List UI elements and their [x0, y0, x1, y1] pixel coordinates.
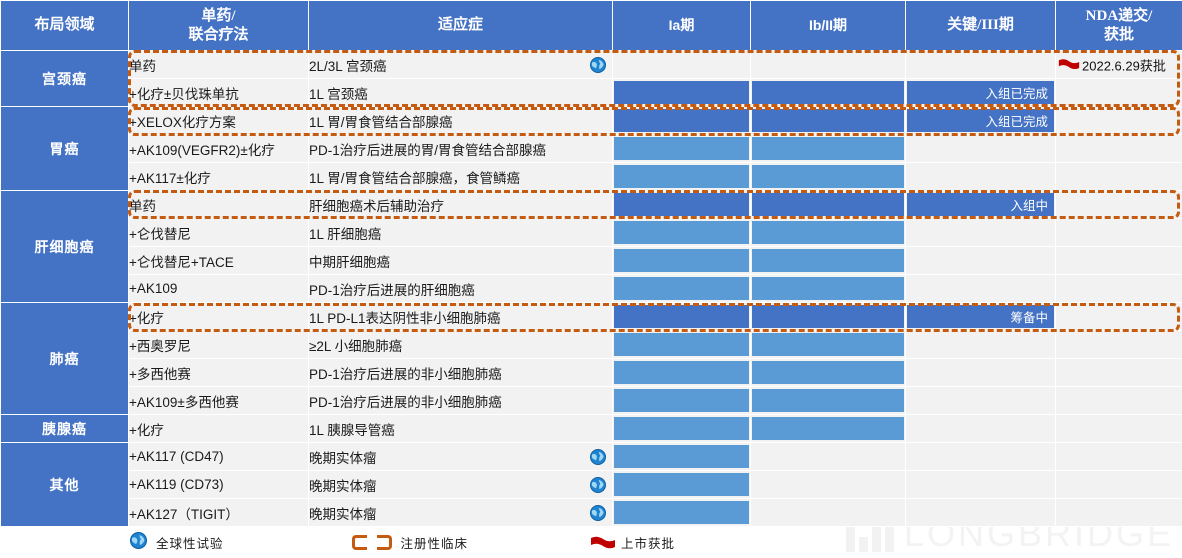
phase-ib2-cell-bar — [752, 221, 904, 244]
phase-pivotal-cell-bar — [907, 137, 1054, 160]
therapy-cell: +AK127（TIGIT） — [129, 499, 309, 527]
table-row: +西奥罗尼≥2L 小细胞肺癌 — [1, 331, 1182, 359]
table-row: 肺癌+化疗1L PD-L1表达阴性非小细胞肺癌筹备中 — [1, 303, 1182, 331]
phase-ia-cell — [613, 331, 751, 359]
phase-ia-cell-bar — [614, 501, 749, 524]
phase-ib2-cell — [751, 471, 906, 499]
therapy-cell: +AK109±多西他赛 — [129, 387, 309, 415]
phase-ia-cell-bar — [614, 221, 749, 244]
dashed-bracket-icon — [352, 535, 392, 550]
phase-ib2-cell-bar — [752, 165, 904, 188]
indication-cell: ≥2L 小细胞肺癌 — [309, 331, 613, 359]
phase-ib2-cell-bar — [752, 361, 904, 384]
phase-ia-cell-bar — [614, 445, 749, 468]
table-row: 宫颈癌单药2L/3L 宫颈癌2022.6.29获批 — [1, 51, 1182, 79]
nda-cell — [1056, 247, 1182, 275]
table-row: +AK119 (CD73)晚期实体瘤 — [1, 471, 1182, 499]
indication-cell: PD-1治疗后进展的非小细胞肺癌 — [309, 387, 613, 415]
phase-ia-cell — [613, 135, 751, 163]
phase-pivotal-cell-bar — [907, 473, 1054, 496]
phase-ia-cell — [613, 499, 751, 527]
globe-icon — [590, 505, 606, 521]
phase-pivotal-cell: 入组已完成 — [906, 107, 1056, 135]
legend-label-registration-trial: 注册性临床 — [401, 533, 469, 552]
phase-pivotal-cell-bar — [907, 53, 1054, 76]
therapy-cell: +AK117±化疗 — [129, 163, 309, 191]
phase-ia-cell-bar — [614, 389, 749, 412]
phase-ib2-cell-bar — [752, 109, 904, 132]
phase-pivotal-cell-bar — [907, 277, 1054, 300]
area-cell: 肝细胞癌 — [1, 191, 129, 303]
approval-marker: 2022.6.29获批 — [1058, 55, 1166, 74]
indication-cell: 中期肝细胞癌 — [309, 247, 613, 275]
phase-ia-cell — [613, 247, 751, 275]
pipeline-table: 布局领域 单药/ 联合疗法 适应症 Ia期 Ib/II期 关键/III期 NDA… — [0, 0, 1182, 527]
nda-cell — [1056, 471, 1182, 499]
indication-cell: 1L PD-L1表达阴性非小细胞肺癌 — [309, 303, 613, 331]
table-row: 胰腺癌+化疗1L 胰腺导管癌 — [1, 415, 1182, 443]
col-header-nda-line1: NDA递交/ — [1056, 7, 1182, 26]
phase-ib2-cell — [751, 275, 906, 303]
legend: 全球性试验 注册性临床 上市获批 — [0, 527, 1182, 558]
phase-pivotal-cell-bar: 筹备中 — [907, 305, 1054, 328]
phase-pivotal-cell: 筹备中 — [906, 303, 1056, 331]
phase-ib2-cell — [751, 163, 906, 191]
nda-cell: 2022.6.29获批 — [1056, 51, 1182, 79]
approval-date-label: 2022.6.29获批 — [1082, 55, 1166, 74]
indication-cell: 1L 肝细胞癌 — [309, 219, 613, 247]
phase-pivotal-cell-bar — [907, 221, 1054, 244]
phase-ia-cell-bar — [614, 277, 749, 300]
col-header-therapy-line2: 联合疗法 — [129, 26, 308, 45]
phase-ib2-cell — [751, 135, 906, 163]
col-header-phase-ib2: Ib/II期 — [751, 1, 906, 51]
phase-ib2-cell — [751, 219, 906, 247]
phase-ib2-cell — [751, 387, 906, 415]
nda-cell — [1056, 499, 1182, 527]
table-body: 宫颈癌单药2L/3L 宫颈癌2022.6.29获批+化疗±贝伐珠单抗1L 宫颈癌… — [1, 51, 1182, 527]
col-header-area: 布局领域 — [1, 1, 129, 51]
table-row: +化疗±贝伐珠单抗1L 宫颈癌入组已完成 — [1, 79, 1182, 107]
col-header-nda: NDA递交/ 获批 — [1056, 1, 1182, 51]
nda-cell — [1056, 443, 1182, 471]
nda-cell — [1056, 107, 1182, 135]
table-row: 其他+AK117 (CD47)晚期实体瘤 — [1, 443, 1182, 471]
therapy-cell: +仑伐替尼 — [129, 219, 309, 247]
phase-pivotal-cell — [906, 219, 1056, 247]
phase-pivotal-cell — [906, 275, 1056, 303]
col-header-phase-pivotal: 关键/III期 — [906, 1, 1056, 51]
phase-ia-cell — [613, 415, 751, 443]
phase-pivotal-cell — [906, 51, 1056, 79]
phase-ia-cell — [613, 191, 751, 219]
col-header-nda-line2: 获批 — [1056, 26, 1182, 45]
phase-ia-cell — [613, 387, 751, 415]
legend-item-registration-trial: 注册性临床 — [352, 533, 469, 552]
phase-pivotal-cell-bar: 入组已完成 — [907, 81, 1054, 104]
phase-ib2-cell — [751, 79, 906, 107]
phase-ib2-cell — [751, 303, 906, 331]
phase-ib2-cell — [751, 107, 906, 135]
therapy-cell: +AK109 — [129, 275, 309, 303]
nda-cell — [1056, 331, 1182, 359]
col-header-indication: 适应症 — [309, 1, 613, 51]
col-header-therapy: 单药/ 联合疗法 — [129, 1, 309, 51]
table-row: +仑伐替尼1L 肝细胞癌 — [1, 219, 1182, 247]
phase-pivotal-cell — [906, 387, 1056, 415]
phase-ia-cell-bar — [614, 333, 749, 356]
indication-cell: 1L 胃/胃食管结合部腺癌，食管鳞癌 — [309, 163, 613, 191]
indication-cell: 1L 胃/胃食管结合部腺癌 — [309, 107, 613, 135]
phase-ia-cell-bar — [614, 417, 749, 440]
phase-pivotal-cell — [906, 471, 1056, 499]
area-cell: 宫颈癌 — [1, 51, 129, 107]
table-row: +多西他赛PD-1治疗后进展的非小细胞肺癌 — [1, 359, 1182, 387]
therapy-cell: +化疗±贝伐珠单抗 — [129, 79, 309, 107]
phase-ia-cell-bar — [614, 361, 749, 384]
phase-ib2-cell-bar — [752, 305, 904, 328]
phase-ia-cell — [613, 219, 751, 247]
phase-pivotal-cell-bar — [907, 417, 1054, 440]
indication-cell: 1L 宫颈癌 — [309, 79, 613, 107]
globe-icon — [130, 532, 147, 553]
phase-pivotal-cell-bar — [907, 249, 1054, 272]
col-header-therapy-line1: 单药/ — [129, 7, 308, 26]
globe-icon — [590, 57, 606, 73]
phase-ia-cell — [613, 443, 751, 471]
indication-cell: PD-1治疗后进展的胃/胃食管结合部腺癌 — [309, 135, 613, 163]
nda-cell — [1056, 191, 1182, 219]
indication-cell: 晚期实体瘤 — [309, 499, 613, 527]
phase-ib2-cell-bar — [752, 81, 904, 104]
pipeline-table-wrapper: 布局领域 单药/ 联合疗法 适应症 Ia期 Ib/II期 关键/III期 NDA… — [0, 0, 1182, 527]
nda-cell — [1056, 415, 1182, 443]
globe-icon — [590, 477, 606, 493]
phase-ia-cell — [613, 275, 751, 303]
indication-cell: PD-1治疗后进展的非小细胞肺癌 — [309, 359, 613, 387]
therapy-cell: +多西他赛 — [129, 359, 309, 387]
phase-pivotal-cell — [906, 499, 1056, 527]
phase-ia-cell — [613, 359, 751, 387]
phase-pivotal-cell-bar — [907, 333, 1054, 356]
phase-pivotal-cell-bar — [907, 501, 1054, 524]
phase-ia-cell — [613, 163, 751, 191]
nda-cell — [1056, 163, 1182, 191]
phase-ib2-cell — [751, 247, 906, 275]
red-flag-icon — [590, 536, 612, 549]
area-cell: 其他 — [1, 443, 129, 527]
phase-ib2-cell-bar — [752, 277, 904, 300]
therapy-cell: +化疗 — [129, 415, 309, 443]
therapy-cell: 单药 — [129, 51, 309, 79]
phase-ib2-cell — [751, 499, 906, 527]
phase-ib2-cell-bar — [752, 473, 904, 496]
phase-pivotal-cell — [906, 443, 1056, 471]
indication-cell: 肝细胞癌术后辅助治疗 — [309, 191, 613, 219]
phase-ia-cell-bar — [614, 249, 749, 272]
nda-cell — [1056, 275, 1182, 303]
indication-cell: 晚期实体瘤 — [309, 443, 613, 471]
table-row: 胃癌+XELOX化疗方案1L 胃/胃食管结合部腺癌入组已完成 — [1, 107, 1182, 135]
phase-ia-cell-bar — [614, 109, 749, 132]
phase-ia-cell-bar — [614, 53, 749, 76]
nda-cell — [1056, 219, 1182, 247]
phase-pivotal-cell-bar — [907, 445, 1054, 468]
nda-cell — [1056, 135, 1182, 163]
nda-cell — [1056, 359, 1182, 387]
phase-ia-cell-bar — [614, 137, 749, 160]
legend-label-approval: 上市获批 — [621, 533, 675, 552]
phase-pivotal-cell-bar: 入组中 — [907, 193, 1054, 216]
table-row: +仑伐替尼+TACE中期肝细胞癌 — [1, 247, 1182, 275]
phase-ib2-cell-bar — [752, 137, 904, 160]
phase-ib2-cell-bar — [752, 193, 904, 216]
phase-ia-cell-bar — [614, 193, 749, 216]
indication-cell: PD-1治疗后进展的肝细胞癌 — [309, 275, 613, 303]
phase-ia-cell — [613, 471, 751, 499]
table-row: +AK127（TIGIT）晚期实体瘤 — [1, 499, 1182, 527]
indication-cell: 2L/3L 宫颈癌 — [309, 51, 613, 79]
legend-item-global-trial: 全球性试验 — [130, 532, 224, 553]
phase-ib2-cell — [751, 415, 906, 443]
phase-ia-cell — [613, 79, 751, 107]
phase-ib2-cell — [751, 331, 906, 359]
globe-icon — [590, 449, 606, 465]
phase-ib2-cell — [751, 443, 906, 471]
phase-pivotal-cell — [906, 135, 1056, 163]
table-header-row: 布局领域 单药/ 联合疗法 适应症 Ia期 Ib/II期 关键/III期 NDA… — [1, 1, 1182, 51]
phase-ib2-cell — [751, 191, 906, 219]
phase-ia-cell — [613, 303, 751, 331]
therapy-cell: +AK109(VEGFR2)±化疗 — [129, 135, 309, 163]
therapy-cell: +AK117 (CD47) — [129, 443, 309, 471]
phase-pivotal-cell: 入组已完成 — [906, 79, 1056, 107]
phase-pivotal-cell — [906, 331, 1056, 359]
phase-ia-cell-bar — [614, 165, 749, 188]
area-cell: 胰腺癌 — [1, 415, 129, 443]
phase-pivotal-cell — [906, 415, 1056, 443]
table-row: +AK109(VEGFR2)±化疗PD-1治疗后进展的胃/胃食管结合部腺癌 — [1, 135, 1182, 163]
phase-pivotal-cell — [906, 163, 1056, 191]
therapy-cell: +仑伐替尼+TACE — [129, 247, 309, 275]
phase-ib2-cell-bar — [752, 501, 904, 524]
legend-label-global-trial: 全球性试验 — [156, 533, 224, 552]
phase-pivotal-cell: 入组中 — [906, 191, 1056, 219]
phase-pivotal-cell-bar — [907, 165, 1054, 188]
nda-cell — [1056, 303, 1182, 331]
phase-pivotal-cell-bar — [907, 361, 1054, 384]
indication-cell: 晚期实体瘤 — [309, 471, 613, 499]
therapy-cell: +化疗 — [129, 303, 309, 331]
table-row: +AK109±多西他赛PD-1治疗后进展的非小细胞肺癌 — [1, 387, 1182, 415]
phase-pivotal-cell-bar: 入组已完成 — [907, 109, 1054, 132]
phase-pivotal-cell — [906, 247, 1056, 275]
therapy-cell: +XELOX化疗方案 — [129, 107, 309, 135]
phase-ia-cell-bar — [614, 81, 749, 104]
table-row: 肝细胞癌单药肝细胞癌术后辅助治疗入组中 — [1, 191, 1182, 219]
phase-ib2-cell-bar — [752, 445, 904, 468]
phase-pivotal-cell-bar — [907, 389, 1054, 412]
indication-cell: 1L 胰腺导管癌 — [309, 415, 613, 443]
phase-pivotal-cell — [906, 359, 1056, 387]
phase-ib2-cell — [751, 359, 906, 387]
therapy-cell: 单药 — [129, 191, 309, 219]
phase-ia-cell — [613, 51, 751, 79]
col-header-phase-ia: Ia期 — [613, 1, 751, 51]
phase-ib2-cell-bar — [752, 53, 904, 76]
area-cell: 肺癌 — [1, 303, 129, 415]
phase-ia-cell — [613, 107, 751, 135]
therapy-cell: +西奥罗尼 — [129, 331, 309, 359]
therapy-cell: +AK119 (CD73) — [129, 471, 309, 499]
phase-ib2-cell-bar — [752, 389, 904, 412]
phase-ib2-cell-bar — [752, 249, 904, 272]
phase-ib2-cell-bar — [752, 417, 904, 440]
phase-ia-cell-bar — [614, 473, 749, 496]
nda-cell — [1056, 79, 1182, 107]
nda-cell — [1056, 387, 1182, 415]
phase-ib2-cell — [751, 51, 906, 79]
legend-item-approval: 上市获批 — [590, 533, 675, 552]
table-row: +AK109PD-1治疗后进展的肝细胞癌 — [1, 275, 1182, 303]
red-flag-icon — [1058, 58, 1080, 71]
area-cell: 胃癌 — [1, 107, 129, 191]
phase-ib2-cell-bar — [752, 333, 904, 356]
table-row: +AK117±化疗1L 胃/胃食管结合部腺癌，食管鳞癌 — [1, 163, 1182, 191]
phase-ia-cell-bar — [614, 305, 749, 328]
